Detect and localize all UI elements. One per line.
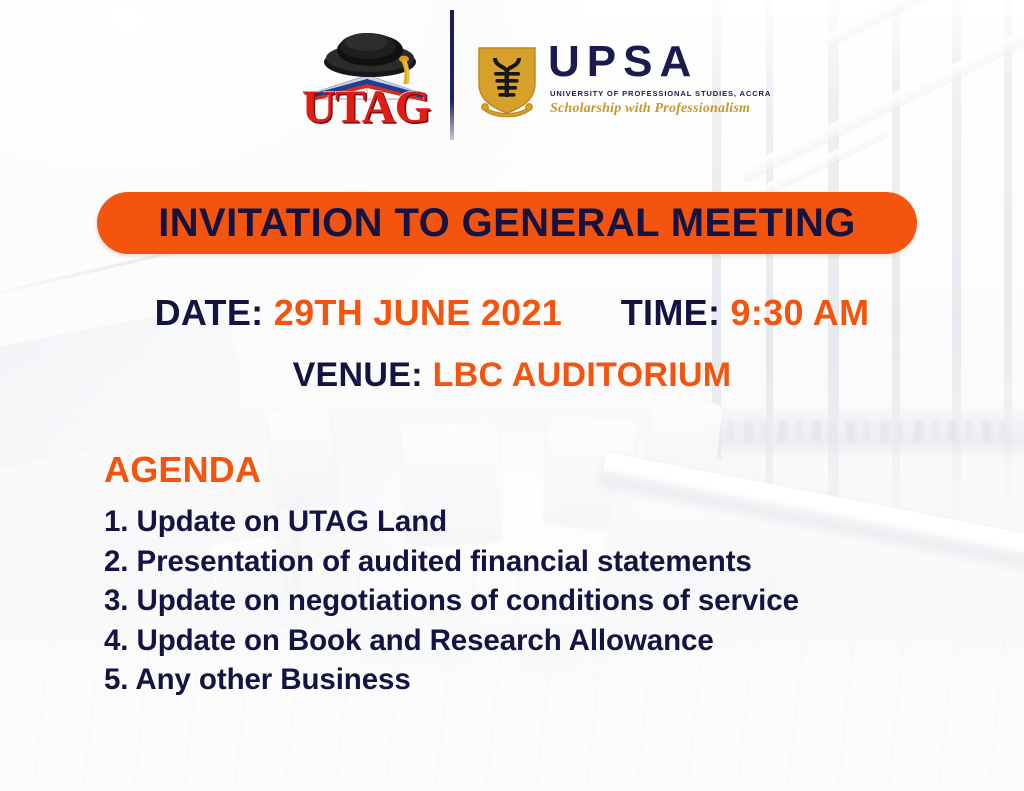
utag-logo: UTAG	[286, 22, 446, 134]
graduation-cap-icon	[322, 28, 418, 84]
upsa-shield-icon	[476, 44, 538, 122]
agenda-item: 5. Any other Business	[104, 660, 954, 700]
venue-label: VENUE:	[293, 356, 423, 394]
title-banner: INVITATION TO GENERAL MEETING	[97, 192, 917, 254]
utag-wordmark: UTAG	[286, 84, 446, 131]
agenda-item: 2. Presentation of audited financial sta…	[104, 542, 954, 582]
upsa-tagline: Scholarship with Professionalism	[550, 101, 750, 117]
time-label: TIME:	[621, 292, 720, 333]
agenda-section: AGENDA 1. Update on UTAG Land 2. Present…	[104, 452, 954, 700]
agenda-list: 1. Update on UTAG Land 2. Presentation o…	[104, 502, 954, 700]
invitation-flyer: UTAG	[0, 0, 1024, 791]
logo-divider	[450, 10, 454, 140]
agenda-item: 4. Update on Book and Research Allowance	[104, 621, 954, 661]
agenda-heading: AGENDA	[104, 452, 954, 488]
date-time-line: DATE: 29TH JUNE 2021 TIME: 9:30 AM	[0, 292, 1024, 334]
date-label: DATE:	[155, 292, 264, 333]
agenda-item: 3. Update on negotiations of conditions …	[104, 581, 954, 621]
time-value: 9:30 AM	[731, 292, 870, 333]
upsa-wordmark: UPSA	[548, 40, 698, 85]
agenda-item: 1. Update on UTAG Land	[104, 502, 954, 542]
date-value: 29TH JUNE 2021	[274, 292, 562, 333]
logo-header: UTAG	[0, 0, 1024, 150]
upsa-subtitle: UNIVERSITY OF PROFESSIONAL STUDIES, ACCR…	[550, 89, 771, 98]
upsa-logo: UPSA UNIVERSITY OF PROFESSIONAL STUDIES,…	[476, 40, 716, 132]
venue-line: VENUE: LBC AUDITORIUM	[0, 356, 1024, 395]
venue-value: LBC AUDITORIUM	[433, 356, 732, 394]
page-title: INVITATION TO GENERAL MEETING	[158, 201, 856, 246]
